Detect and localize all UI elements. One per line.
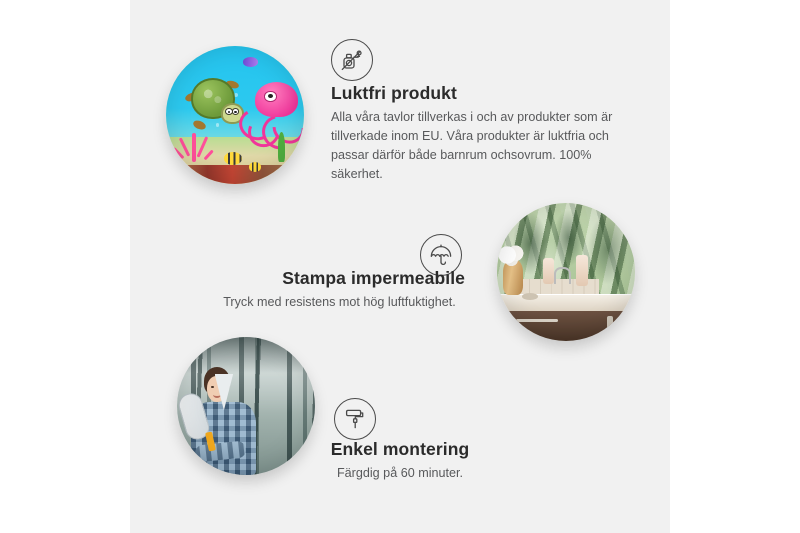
- no-fragrance-icon: [331, 39, 373, 81]
- promo-infographic: Luktfri produkt Alla våra tavlor tillver…: [0, 0, 800, 533]
- feature-text-odour-free: Luktfri produkt Alla våra tavlor tillver…: [331, 83, 621, 184]
- coral-illustration: [174, 121, 215, 162]
- feature-text-easy-installation: Enkel montering Färgdig på 60 minuter.: [258, 439, 542, 483]
- turtle-illustration: [184, 76, 242, 126]
- feature-description-waterproof-print: Tryck med resistens mot hög luftfuktighe…: [150, 293, 465, 312]
- feature-description-odour-free: Alla våra tavlor tillverkas i och av pro…: [331, 108, 621, 185]
- feature-title-easy-installation: Enkel montering: [258, 439, 542, 461]
- feature-image-waterproof-print: [497, 203, 635, 341]
- feature-image-odour-free: [166, 46, 304, 184]
- underwater-scene: [166, 46, 304, 184]
- woman-illustration: [185, 367, 262, 475]
- feature-description-easy-installation: Färgdig på 60 minuter.: [258, 464, 542, 483]
- bathroom-scene: [497, 203, 635, 341]
- octopus-illustration: [246, 82, 301, 145]
- paint-roller-icon: [334, 398, 376, 440]
- feature-title-waterproof-print: Stampa impermeabile: [150, 268, 465, 290]
- feature-title-odour-free: Luktfri produkt: [331, 83, 621, 105]
- feature-text-waterproof-print: Stampa impermeabile Tryck med resistens …: [150, 268, 465, 312]
